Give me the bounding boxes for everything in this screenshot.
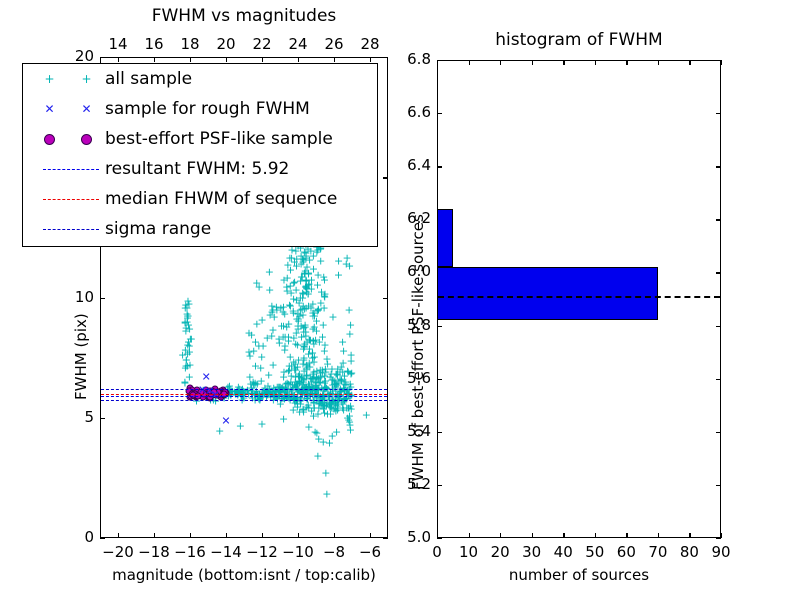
scatter-point-all-sample: + (333, 396, 342, 407)
scatter-point-all-sample: + (278, 382, 287, 393)
scatter-top-tick-label: 14 (98, 35, 138, 53)
scatter-point-all-sample: + (344, 304, 353, 315)
scatter-point-all-sample: + (310, 351, 319, 362)
scatter-point-all-sample: + (265, 266, 274, 277)
scatter-point-all-sample: + (302, 402, 311, 413)
scatter-point-all-sample: + (215, 425, 224, 436)
scatter-point-all-sample: + (307, 376, 316, 387)
scatter-point-all-sample: + (269, 383, 278, 394)
scatter-point-all-sample: + (313, 280, 322, 291)
scatter-y-tick (100, 538, 105, 539)
scatter-point-all-sample: + (309, 410, 318, 421)
scatter-point-all-sample: + (334, 256, 343, 267)
scatter-point-all-sample: + (333, 400, 342, 411)
scatter-point-all-sample: + (286, 351, 295, 362)
scatter-point-all-sample: + (264, 370, 273, 381)
legend-item-label: median FHWM of sequence (105, 189, 337, 209)
scatter-point-all-sample: + (315, 337, 324, 348)
scatter-point-all-sample: + (273, 381, 282, 392)
scatter-point-all-sample: + (302, 284, 311, 295)
scatter-point-all-sample: + (302, 363, 311, 374)
scatter-point-all-sample: + (280, 309, 289, 320)
scatter-point-all-sample: + (298, 272, 307, 283)
scatter-point-all-sample: + (333, 403, 342, 414)
legend-box[interactable]: ++all sample✕✕sample for rough FWHMbest-… (22, 63, 378, 247)
scatter-point-all-sample: + (316, 371, 325, 382)
scatter-point-all-sample: + (291, 377, 300, 388)
scatter-point-all-sample: + (306, 373, 315, 384)
scatter-point-all-sample: + (309, 397, 318, 408)
scatter-point-all-sample: + (327, 396, 336, 407)
scatter-point-all-sample: + (323, 409, 332, 420)
scatter-point-all-sample: + (286, 281, 295, 292)
scatter-point-all-sample: + (308, 352, 317, 363)
scatter-point-all-sample: + (304, 280, 313, 291)
scatter-point-all-sample: + (281, 379, 290, 390)
scatter-point-all-sample: + (320, 291, 329, 302)
scatter-point-all-sample: + (321, 382, 330, 393)
legend-item[interactable]: ++all sample (23, 64, 377, 94)
scatter-point-all-sample: + (181, 363, 190, 374)
scatter-point-all-sample: + (301, 382, 310, 393)
scatter-point-all-sample: + (328, 374, 337, 385)
scatter-point-all-sample: + (346, 425, 355, 436)
scatter-point-all-sample: + (181, 318, 190, 329)
scatter-point-all-sample: + (303, 362, 312, 373)
scatter-point-all-sample: + (299, 365, 308, 376)
scatter-point-all-sample: + (183, 310, 192, 321)
scatter-point-all-sample: + (347, 368, 356, 379)
scatter-point-all-sample: + (312, 372, 321, 383)
scatter-point-all-sample: + (320, 370, 329, 381)
scatter-point-all-sample: + (305, 382, 314, 393)
scatter-point-all-sample: + (285, 253, 294, 264)
scatter-point-all-sample: + (313, 382, 322, 393)
legend-item[interactable]: median FHWM of sequence (23, 184, 377, 214)
scatter-point-all-sample: + (330, 381, 339, 392)
scatter-point-all-sample: + (301, 281, 310, 292)
scatter-point-all-sample: + (282, 282, 291, 293)
scatter-point-all-sample: + (345, 416, 354, 427)
scatter-point-all-sample: + (291, 339, 300, 350)
scatter-point-all-sample: + (244, 327, 253, 338)
scatter-point-all-sample: + (301, 252, 310, 263)
scatter-point-all-sample: + (319, 436, 328, 447)
scatter-point-all-sample: + (297, 259, 306, 270)
scatter-point-all-sample: + (316, 364, 325, 375)
scatter-point-all-sample: + (281, 382, 290, 393)
scatter-point-all-sample: + (304, 268, 313, 279)
scatter-point-all-sample: + (181, 345, 190, 356)
scatter-point-all-sample: + (299, 375, 308, 386)
scatter-point-all-sample: + (301, 327, 310, 338)
histogram-ylabel: FWHM of best-effort PSF-like sources (409, 214, 427, 490)
scatter-point-all-sample: + (299, 288, 308, 299)
scatter-point-all-sample: + (295, 298, 304, 309)
scatter-point-all-sample: + (309, 373, 318, 384)
scatter-point-all-sample: + (316, 256, 325, 267)
scatter-point-all-sample: + (309, 372, 318, 383)
scatter-point-all-sample: + (284, 319, 293, 330)
scatter-top-tick-label: 28 (350, 35, 390, 53)
scatter-point-all-sample: + (291, 381, 300, 392)
scatter-point-all-sample: + (326, 402, 335, 413)
scatter-point-all-sample: + (297, 250, 306, 261)
scatter-point-all-sample: + (335, 374, 344, 385)
scatter-point-all-sample: + (320, 400, 329, 411)
legend-item-label: resultant FWHM: 5.92 (105, 159, 289, 179)
scatter-point-all-sample: + (306, 302, 315, 313)
scatter-point-all-sample: + (279, 307, 288, 318)
scatter-point-all-sample: + (294, 354, 303, 365)
scatter-point-all-sample: + (278, 332, 287, 343)
legend-item[interactable]: best-effort PSF-like sample (23, 124, 377, 154)
scatter-point-all-sample: + (295, 369, 304, 380)
scatter-point-all-sample: + (327, 364, 336, 375)
scatter-point-all-sample: + (302, 359, 311, 370)
scatter-point-all-sample: + (299, 376, 308, 387)
legend-item[interactable]: ✕✕sample for rough FWHM (23, 94, 377, 124)
scatter-point-all-sample: + (292, 314, 301, 325)
scatter-point-all-sample: + (301, 274, 310, 285)
legend-x-icon: ✕ (44, 103, 54, 115)
histogram-x-tick-top (721, 60, 722, 65)
scatter-point-all-sample: + (339, 346, 348, 357)
scatter-point-all-sample: + (289, 357, 298, 368)
scatter-point-all-sample: + (181, 302, 190, 313)
scatter-point-all-sample: + (314, 303, 323, 314)
scatter-point-all-sample: + (345, 328, 354, 339)
legend-line-dashed-icon (43, 199, 99, 200)
scatter-point-all-sample: + (322, 382, 331, 393)
scatter-point-all-sample: + (282, 321, 291, 332)
scatter-point-all-sample: + (257, 418, 266, 429)
scatter-point-all-sample: + (305, 358, 314, 369)
scatter-point-all-sample: + (290, 365, 299, 376)
sigma-range-upper-line (101, 389, 387, 390)
scatter-point-all-sample: + (299, 373, 308, 384)
scatter-point-all-sample: + (325, 401, 334, 412)
scatter-point-all-sample: + (291, 358, 300, 369)
scatter-point-all-sample: + (280, 341, 289, 352)
scatter-point-all-sample: + (297, 271, 306, 282)
scatter-point-all-sample: + (291, 372, 300, 383)
scatter-point-all-sample: + (308, 323, 317, 334)
scatter-point-all-sample: + (181, 299, 190, 310)
scatter-point-all-sample: + (308, 299, 317, 310)
histogram-y-tick-label: 5.0 (387, 528, 431, 546)
scatter-point-all-sample: + (284, 366, 293, 377)
scatter-point-all-sample: + (302, 262, 311, 273)
scatter-point-all-sample: + (268, 325, 277, 336)
scatter-point-all-sample: + (297, 376, 306, 387)
scatter-point-all-sample: + (182, 303, 191, 314)
scatter-point-all-sample: + (299, 327, 308, 338)
scatter-point-all-sample: + (322, 353, 331, 364)
scatter-point-all-sample: + (287, 361, 296, 372)
scatter-point-all-sample: + (331, 381, 340, 392)
scatter-point-all-sample: + (268, 304, 277, 315)
legend-dot-icon (44, 134, 55, 145)
scatter-point-all-sample: + (309, 251, 318, 262)
scatter-point-all-sample: + (248, 376, 257, 387)
scatter-point-all-sample: + (289, 294, 298, 305)
legend-item[interactable]: sigma range (23, 214, 377, 244)
scatter-point-psf-like (186, 385, 193, 392)
scatter-point-all-sample: + (322, 488, 331, 499)
scatter-xlabel: magnitude (bottom:isnt / top:calib) (100, 566, 388, 584)
scatter-point-all-sample: + (291, 365, 300, 376)
scatter-point-all-sample: + (184, 320, 193, 331)
legend-marker-plus-icon: ++ (31, 64, 105, 94)
scatter-point-all-sample: + (252, 277, 261, 288)
scatter-point-all-sample: + (299, 404, 308, 415)
scatter-point-all-sample: + (310, 310, 319, 321)
scatter-point-all-sample: + (297, 373, 306, 384)
scatter-point-all-sample: + (302, 383, 311, 394)
scatter-point-all-sample: + (277, 383, 286, 394)
scatter-point-all-sample: + (283, 259, 292, 270)
scatter-point-all-sample: + (276, 302, 285, 313)
scatter-point-all-sample: + (302, 303, 311, 314)
scatter-point-all-sample: + (312, 371, 321, 382)
scatter-point-all-sample: + (294, 371, 303, 382)
scatter-point-all-sample: + (257, 376, 266, 387)
scatter-point-all-sample: + (309, 402, 318, 413)
scatter-point-all-sample: + (260, 383, 269, 394)
scatter-point-all-sample: + (320, 346, 329, 357)
scatter-point-all-sample: + (298, 292, 307, 303)
scatter-point-all-sample: + (265, 284, 274, 295)
scatter-point-all-sample: + (312, 247, 321, 258)
scatter-point-all-sample: + (312, 326, 321, 337)
scatter-point-all-sample: + (294, 314, 303, 325)
scatter-point-all-sample: + (331, 405, 340, 416)
scatter-point-all-sample: + (340, 370, 349, 381)
scatter-point-all-sample: + (301, 280, 310, 291)
scatter-point-all-sample: + (301, 265, 310, 276)
scatter-point-all-sample: + (344, 366, 353, 377)
scatter-point-all-sample: + (181, 322, 190, 333)
scatter-point-all-sample: + (286, 301, 295, 312)
scatter-point-all-sample: + (305, 343, 314, 354)
scatter-point-all-sample: + (308, 369, 317, 380)
histogram-y-tick-label: 6.6 (387, 103, 431, 121)
scatter-point-all-sample: + (342, 252, 351, 263)
scatter-point-all-sample: + (298, 287, 307, 298)
scatter-point-all-sample: + (292, 378, 301, 389)
histogram-bar (438, 209, 453, 267)
scatter-point-all-sample: + (279, 413, 288, 424)
scatter-point-all-sample: + (182, 354, 191, 365)
scatter-top-tick-label: 26 (314, 35, 354, 53)
scatter-point-all-sample: + (314, 434, 323, 445)
scatter-point-all-sample: + (299, 344, 308, 355)
scatter-point-all-sample: + (321, 468, 330, 479)
scatter-y-tick-label: 5 (56, 408, 94, 426)
legend-dot-icon (81, 134, 92, 145)
scatter-point-all-sample: + (293, 308, 302, 319)
scatter-point-all-sample: + (335, 367, 344, 378)
scatter-point-all-sample: + (314, 402, 323, 413)
scatter-point-all-sample: + (304, 301, 313, 312)
scatter-point-all-sample: + (337, 396, 346, 407)
scatter-point-all-sample: + (339, 405, 348, 416)
scatter-point-all-sample: + (316, 367, 325, 378)
legend-line-dashed-icon (43, 169, 99, 170)
scatter-point-all-sample: + (292, 382, 301, 393)
scatter-point-all-sample: + (309, 263, 318, 274)
scatter-point-all-sample: + (320, 401, 329, 412)
scatter-point-all-sample: + (279, 321, 288, 332)
scatter-point-all-sample: + (304, 379, 313, 390)
scatter-point-all-sample: + (299, 355, 308, 366)
scatter-point-all-sample: + (334, 269, 343, 280)
scatter-point-all-sample: + (295, 371, 304, 382)
scatter-point-all-sample: + (304, 335, 313, 346)
scatter-point-all-sample: + (251, 336, 260, 347)
scatter-point-all-sample: + (300, 303, 309, 314)
scatter-point-all-sample: + (223, 381, 232, 392)
scatter-top-tick-label: 16 (134, 35, 174, 53)
scatter-top-tick-label: 22 (242, 35, 282, 53)
scatter-point-all-sample: + (333, 370, 342, 381)
scatter-point-all-sample: + (319, 303, 328, 314)
scatter-point-all-sample: + (291, 285, 300, 296)
scatter-point-all-sample: + (304, 348, 313, 359)
scatter-point-all-sample: + (186, 334, 195, 345)
scatter-point-all-sample: + (184, 336, 193, 347)
scatter-point-all-sample: + (267, 306, 276, 317)
scatter-point-all-sample: + (300, 383, 309, 394)
scatter-point-all-sample: + (303, 288, 312, 299)
scatter-point-all-sample: + (302, 337, 311, 348)
scatter-point-all-sample: + (185, 340, 194, 351)
scatter-point-all-sample: + (362, 410, 371, 421)
scatter-top-tick-label: 20 (206, 35, 246, 53)
scatter-point-all-sample: + (298, 257, 307, 268)
scatter-point-all-sample: + (337, 361, 346, 372)
scatter-point-all-sample: + (300, 246, 309, 257)
scatter-point-all-sample: + (287, 371, 296, 382)
scatter-point-all-sample: + (337, 375, 346, 386)
scatter-point-all-sample: + (309, 367, 318, 378)
scatter-point-all-sample: + (263, 332, 272, 343)
scatter-point-all-sample: + (298, 254, 307, 265)
scatter-point-all-sample: + (286, 265, 295, 276)
histogram-median-line (438, 296, 720, 298)
scatter-point-all-sample: + (302, 275, 311, 286)
scatter-point-all-sample: + (328, 311, 337, 322)
scatter-point-all-sample: + (308, 373, 317, 384)
scatter-point-all-sample: + (183, 360, 192, 371)
scatter-point-all-sample: + (346, 369, 355, 380)
scatter-point-all-sample: + (346, 401, 355, 412)
scatter-point-all-sample: + (254, 341, 263, 352)
scatter-point-all-sample: + (183, 313, 192, 324)
legend-item[interactable]: resultant FWHM: 5.92 (23, 154, 377, 184)
scatter-point-all-sample: + (309, 335, 318, 346)
scatter-point-all-sample: + (279, 366, 288, 377)
legend-marker-dot-icon (31, 124, 105, 154)
scatter-point-all-sample: + (311, 376, 320, 387)
scatter-point-all-sample: + (302, 382, 311, 393)
scatter-point-all-sample: + (312, 365, 321, 376)
scatter-point-all-sample: + (301, 276, 310, 287)
scatter-point-all-sample: + (286, 376, 295, 387)
scatter-point-all-sample: + (311, 335, 320, 346)
scatter-point-all-sample: + (319, 404, 328, 415)
scatter-point-all-sample: + (310, 322, 319, 333)
scatter-point-all-sample: + (325, 371, 334, 382)
scatter-point-all-sample: + (320, 407, 329, 418)
scatter-point-all-sample: + (299, 407, 308, 418)
legend-item-label: all sample (105, 69, 192, 89)
scatter-point-all-sample: + (297, 332, 306, 343)
scatter-point-all-sample: + (275, 382, 284, 393)
scatter-point-all-sample: + (304, 279, 313, 290)
scatter-point-all-sample: + (296, 320, 305, 331)
scatter-point-all-sample: + (330, 376, 339, 387)
scatter-point-all-sample: + (298, 359, 307, 370)
scatter-point-all-sample: + (250, 378, 259, 389)
scatter-point-all-sample: + (319, 319, 328, 330)
histogram-y-tick-label: 6.4 (387, 156, 431, 174)
scatter-point-all-sample: + (236, 421, 245, 432)
scatter-top-tick-label: 24 (278, 35, 318, 53)
histogram-data-area (438, 61, 720, 537)
scatter-point-all-sample: + (180, 376, 189, 387)
scatter-point-all-sample: + (300, 342, 309, 353)
scatter-point-all-sample: + (302, 371, 311, 382)
scatter-point-all-sample: + (289, 277, 298, 288)
scatter-point-all-sample: + (285, 299, 294, 310)
scatter-point-all-sample: + (283, 273, 292, 284)
scatter-point-all-sample: + (272, 302, 281, 313)
scatter-point-all-sample: + (304, 288, 313, 299)
scatter-point-all-sample: + (313, 373, 322, 384)
scatter-point-all-sample: + (346, 319, 355, 330)
scatter-point-all-sample: + (344, 403, 353, 414)
scatter-point-all-sample: + (344, 415, 353, 426)
scatter-point-all-sample: + (338, 403, 347, 414)
histogram-y-tick-label: 6.8 (387, 50, 431, 68)
scatter-point-all-sample: + (292, 253, 301, 264)
scatter-point-all-sample: + (330, 379, 339, 390)
legend-plus-icon: + (81, 73, 91, 85)
scatter-point-all-sample: + (313, 305, 322, 316)
scatter-point-all-sample: + (244, 346, 253, 357)
scatter-point-all-sample: + (293, 401, 302, 412)
scatter-point-all-sample: + (275, 337, 284, 348)
scatter-point-all-sample: + (253, 378, 262, 389)
scatter-point-all-sample: + (314, 305, 323, 316)
scatter-point-all-sample: + (185, 323, 194, 334)
scatter-point-all-sample: + (346, 382, 355, 393)
scatter-point-all-sample: + (289, 306, 298, 317)
scatter-point-all-sample: + (301, 321, 310, 332)
legend-marker-x-icon: ✕✕ (31, 94, 105, 124)
scatter-point-all-sample: + (313, 269, 322, 280)
scatter-point-all-sample: + (307, 274, 316, 285)
legend-line-dashdot-icon (43, 229, 99, 230)
scatter-point-all-sample: + (337, 375, 346, 386)
scatter-point-all-sample: + (282, 378, 291, 389)
scatter-point-all-sample: + (320, 288, 329, 299)
scatter-point-all-sample: + (342, 402, 351, 413)
scatter-point-all-sample: + (289, 308, 298, 319)
scatter-point-all-sample: + (306, 246, 315, 257)
